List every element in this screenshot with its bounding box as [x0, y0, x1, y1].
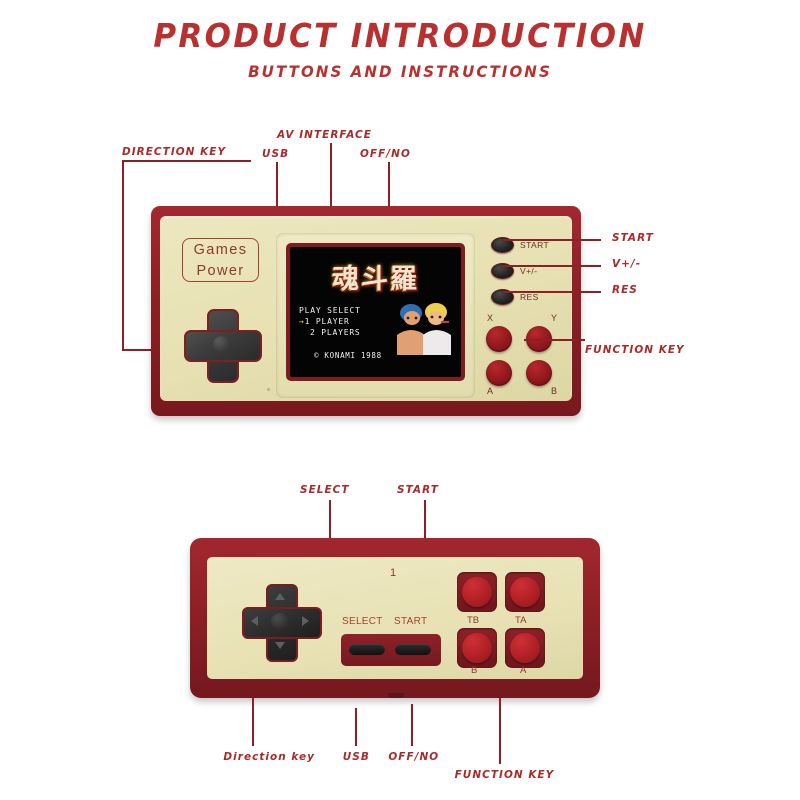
leader-usb-top [276, 162, 278, 210]
button-y-label: Y [551, 313, 557, 323]
dpad-down-arrow-icon [275, 642, 285, 649]
player-number-label: 1 [390, 567, 396, 579]
button-a-label: A [487, 386, 493, 396]
callout-start-gamepad: START [397, 483, 439, 496]
a-button-well [505, 628, 545, 668]
gamepad-start-button[interactable] [395, 644, 431, 655]
callout-start: START [612, 231, 654, 244]
usb-port-nub [388, 693, 404, 698]
brand-logo-line-2: Power [183, 261, 258, 282]
callout-volume: V+/- [612, 257, 641, 270]
reset-button-label: RES [520, 292, 539, 302]
handheld-faceplate: Games Power 魂斗羅 PLAY SELECT →1 PLAYER [160, 216, 572, 401]
button-b[interactable] [526, 360, 552, 386]
leader-function-key-bottom [499, 698, 501, 764]
leader-start [503, 239, 601, 241]
gamepad-a-button[interactable] [510, 633, 540, 663]
leader-direction-key-bottom [252, 698, 254, 746]
dpad-center-nub [213, 336, 229, 352]
gamepad-b-button[interactable] [462, 633, 492, 663]
callout-function-key-bottom: FUNCTION KEY [455, 768, 555, 781]
callout-function-key-top: FUNCTION KEY [585, 343, 685, 356]
screen-frame: 魂斗羅 PLAY SELECT →1 PLAYER 2 PLAYERS © KO… [286, 243, 465, 381]
leader-reset [503, 291, 601, 293]
callout-direction-key-bottom: Direction key [223, 750, 315, 763]
dpad-right-arrow-icon [302, 616, 309, 626]
button-a[interactable] [486, 360, 512, 386]
button-b-label: B [551, 386, 557, 396]
game-copyright: © KONAMI 1988 [314, 351, 382, 360]
leader-off-no-top [388, 162, 390, 210]
dpad-up-arrow-icon [275, 593, 285, 600]
game-characters-art [391, 299, 457, 355]
game-screen: 魂斗羅 PLAY SELECT →1 PLAYER 2 PLAYERS © KO… [290, 247, 461, 377]
callout-reset: RES [612, 283, 638, 296]
leader-off-no-bottom [411, 704, 413, 746]
screen-bezel: 魂斗羅 PLAY SELECT →1 PLAYER 2 PLAYERS © KO… [276, 233, 475, 398]
button-x[interactable] [486, 326, 512, 352]
menu-option-1: 1 PLAYER [305, 317, 350, 326]
gamepad-b-label: B [471, 665, 477, 676]
menu-heading: PLAY SELECT [299, 305, 361, 316]
callout-off-no-bottom: OFF/NO [388, 750, 439, 763]
callout-direction-key-top: DIRECTION KEY [122, 145, 226, 158]
turbo-b-well [457, 572, 497, 612]
gamepad-direction-pad[interactable] [242, 584, 318, 658]
callout-select: SELECT [300, 483, 350, 496]
start-button-label: START [520, 240, 549, 250]
leader-av-interface [330, 143, 332, 210]
game-title-logo: 魂斗羅 [290, 257, 461, 296]
brand-logo-line-1: Games [183, 240, 258, 261]
volume-button-label: V+/- [520, 266, 537, 276]
game-menu: PLAY SELECT →1 PLAYER 2 PLAYERS [299, 305, 361, 338]
gamepad-select-button[interactable] [349, 644, 385, 655]
b-button-well [457, 628, 497, 668]
callout-usb-bottom: USB [343, 750, 370, 763]
speaker-dot-icon [267, 388, 270, 391]
callout-av-interface: AV INTERFACE [277, 128, 372, 141]
turbo-a-well [505, 572, 545, 612]
button-x-label: X [487, 313, 493, 323]
gamepad-dpad-center-nub [271, 613, 289, 629]
gamepad-a-label: A [520, 665, 526, 676]
handheld-console: Games Power 魂斗羅 PLAY SELECT →1 PLAYER [151, 206, 581, 416]
handheld-direction-pad[interactable] [184, 309, 258, 379]
gamepad-start-label: START [394, 616, 427, 627]
gamepad-faceplate: 1 SELECT START TB [207, 557, 583, 679]
turbo-b-label: TB [467, 615, 479, 626]
callout-usb-top: USB [262, 147, 289, 160]
product-introduction-page: PRODUCT INTRODUCTION BUTTONS AND INSTRUC… [0, 0, 800, 800]
leader-function-key-top [524, 339, 585, 341]
callout-off-no-top: OFF/NO [360, 147, 411, 160]
leader-volume [503, 265, 601, 267]
gamepad-controller: 1 SELECT START TB [190, 538, 600, 698]
leader-usb-bottom [355, 708, 357, 746]
turbo-a-button[interactable] [510, 577, 540, 607]
dpad-left-arrow-icon [251, 616, 258, 626]
brand-logo: Games Power [182, 238, 259, 282]
menu-option-2: 2 PLAYERS [299, 327, 361, 338]
leader-direction-key-vertical [122, 160, 124, 350]
select-start-housing [341, 634, 441, 666]
leader-direction-key-horizontal-top [122, 160, 251, 162]
gamepad-select-label: SELECT [342, 616, 383, 627]
turbo-a-label: TA [515, 615, 526, 626]
page-title: PRODUCT INTRODUCTION [24, 16, 776, 55]
turbo-b-button[interactable] [462, 577, 492, 607]
page-subtitle: BUTTONS AND INSTRUCTIONS [24, 62, 776, 81]
